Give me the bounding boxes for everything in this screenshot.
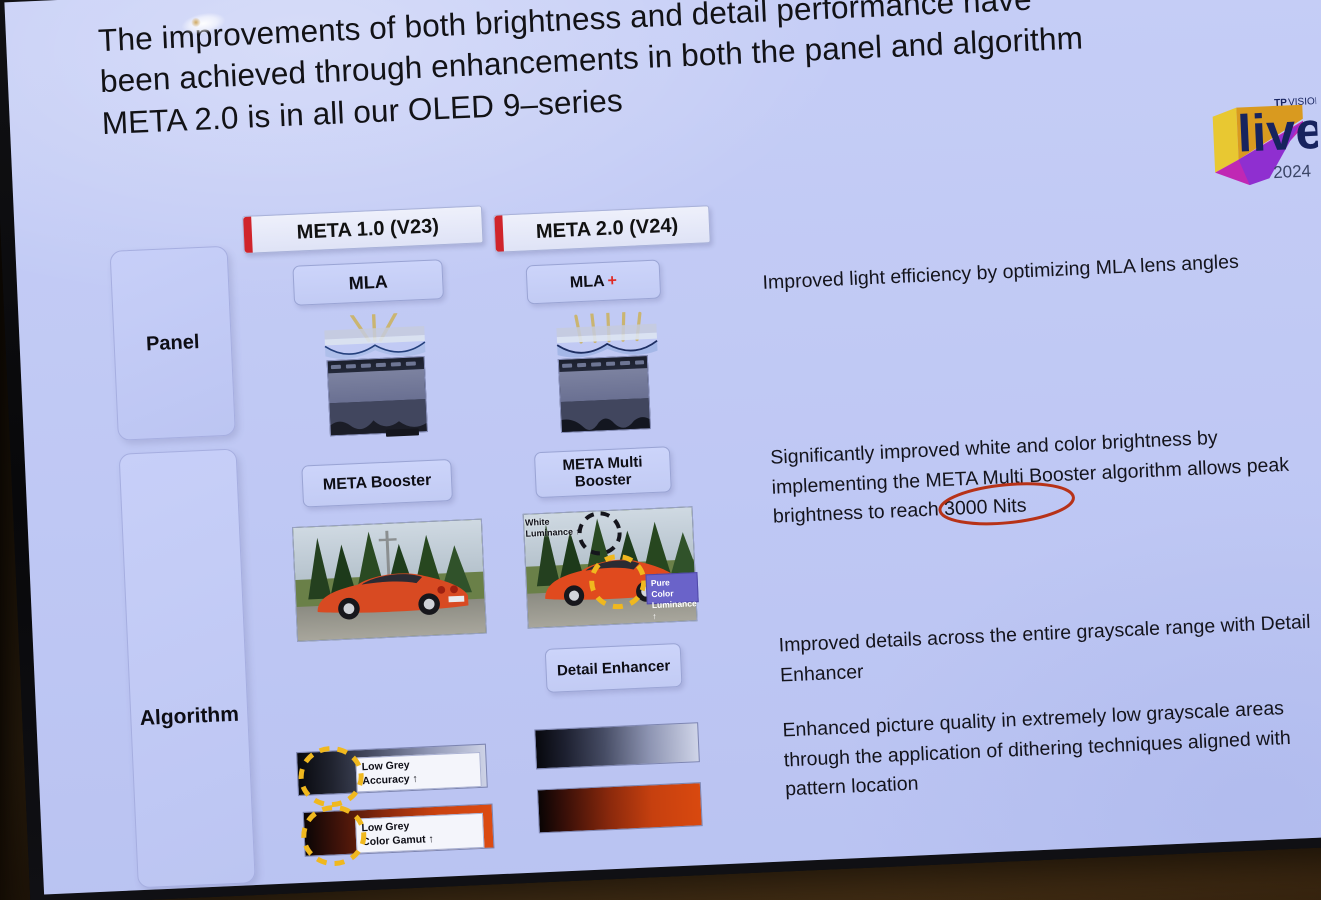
body-text-light-efficiency: Improved light efficiency by optimizing … — [762, 244, 1321, 299]
chip-mla[interactable]: MLA — [292, 259, 444, 306]
sidebar-item-algorithm[interactable]: Algorithm — [119, 448, 256, 888]
column-header-label: META 1.0 (V23) — [296, 215, 439, 244]
svg-text:2024: 2024 — [1273, 161, 1312, 182]
dashed-circle-pure-color-highlight — [586, 551, 651, 612]
sidebar-item-label: Panel — [146, 331, 200, 356]
car-photo-meta10 — [292, 519, 487, 642]
sidebar-item-panel[interactable]: Panel — [110, 246, 236, 441]
annotation-ellipse-3000-nits — [936, 479, 1078, 528]
tv-screen: The improvements of both brightness and … — [4, 0, 1321, 894]
chip-label: META Booster — [323, 472, 432, 495]
chip-label: MLA — [570, 272, 605, 292]
chip-meta-multi-booster[interactable]: META Multi Booster — [534, 446, 672, 498]
measurement-upper-plot — [559, 368, 648, 402]
television: The improvements of both brightness and … — [0, 0, 1321, 900]
dashed-circle-low-grey-color-gamut — [298, 803, 369, 868]
chip-detail-enhancer[interactable]: Detail Enhancer — [545, 643, 683, 693]
tv-bezel: The improvements of both brightness and … — [0, 0, 1321, 900]
chip-label: MLA — [348, 271, 388, 294]
measurement-lower-plot — [561, 398, 650, 433]
presentation-slide: The improvements of both brightness and … — [4, 0, 1321, 894]
column-header-meta10[interactable]: META 1.0 (V23) — [242, 205, 483, 254]
svg-text:live: live — [1236, 102, 1319, 164]
svg-text:TP: TP — [1274, 97, 1288, 109]
chip-meta-booster[interactable]: META Booster — [301, 459, 453, 508]
body-text-dithering: Enhanced picture quality in extremely lo… — [782, 692, 1321, 805]
column-header-meta20[interactable]: META 2.0 (V24) — [493, 205, 710, 253]
chip-mla-plus[interactable]: MLA+ — [526, 259, 662, 304]
tpvision-live-logo: live TP VISION 2024 — [1205, 64, 1320, 187]
chip-label: Detail Enhancer — [557, 657, 671, 679]
measurement-screenshot-v24 — [558, 355, 651, 433]
dashed-circle-white-highlight — [575, 509, 625, 557]
annotation-low-grey-accuracy: Low Grey Accuracy ↑ — [355, 752, 481, 793]
body-text-detail-enhancer: Improved details across the entire grays… — [778, 607, 1321, 691]
gradient-bar-grey-v24 — [534, 722, 700, 769]
sidebar-item-label: Algorithm — [139, 702, 239, 730]
measurement-legend-bar — [386, 428, 419, 436]
annotation-pure-color-luminance: Pure Color Luminance ↑ — [645, 572, 698, 604]
measurement-upper-plot — [328, 369, 425, 403]
svg-text:VISION: VISION — [1288, 96, 1320, 108]
page-title: The improvements of both brightness and … — [97, 0, 1206, 144]
column-header-label: META 2.0 (V24) — [535, 214, 678, 243]
measurement-screenshot-v23 — [327, 356, 428, 436]
gradient-bar-color-v24 — [537, 782, 703, 833]
chip-label: META Multi Booster — [535, 452, 670, 492]
plus-icon: + — [607, 272, 617, 290]
annotation-low-grey-color-gamut: Low Grey Color Gamut ↑ — [355, 813, 484, 854]
dashed-circle-low-grey-accuracy — [296, 744, 367, 809]
